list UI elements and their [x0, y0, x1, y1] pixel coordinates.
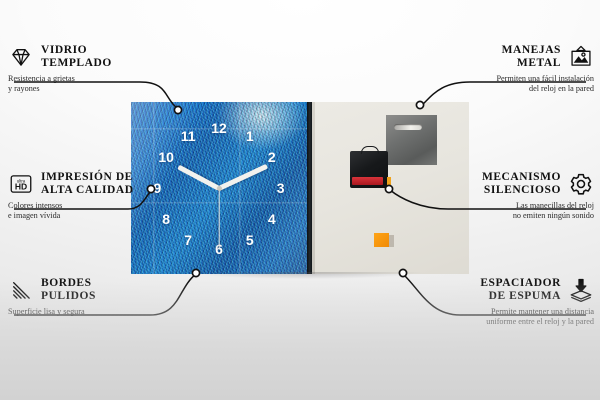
ultra-hd-icon: ultra HD [8, 171, 34, 197]
feature-title: VIDRIO TEMPLADO [41, 44, 112, 69]
hanging-frame-icon [568, 44, 594, 70]
callout-marker-bordes [192, 269, 199, 276]
callout-marker-manejas [416, 101, 423, 108]
feature-description: Colores intensos e imagen vívida [8, 201, 208, 221]
feature-title: ESPACIADOR DE ESPUMA [480, 277, 561, 302]
feature-title: IMPRESIÓN DE ALTA CALIDAD [41, 171, 134, 196]
svg-text:HD: HD [15, 182, 27, 192]
callout-marker-mecanismo [385, 185, 392, 192]
feature-vidrio-templado[interactable]: VIDRIO TEMPLADO Resistencia a grietas y … [8, 44, 208, 94]
feature-header: MANEJAS METAL [394, 44, 594, 70]
polished-edges-icon [8, 277, 34, 303]
feature-description: Resistencia a grietas y rayones [8, 74, 208, 94]
callout-marker-vidrio-templado [174, 106, 181, 113]
feature-mecanismo-silencioso[interactable]: MECANISMO SILENCIOSO Las manecillas del … [394, 171, 594, 221]
feature-header: VIDRIO TEMPLADO [8, 44, 208, 70]
feature-header: MECANISMO SILENCIOSO [394, 171, 594, 197]
gear-icon [568, 171, 594, 197]
feature-description: Permite mantener una distancia uniforme … [394, 307, 594, 327]
feature-impresion-alta-calidad[interactable]: ultra HD IMPRESIÓN DE ALTA CALIDAD Color… [8, 171, 208, 221]
feature-title: BORDES PULIDOS [41, 277, 96, 302]
feature-title: MANEJAS METAL [502, 44, 561, 69]
feature-manejas-metal[interactable]: MANEJAS METAL Permiten una fácil instala… [394, 44, 594, 94]
feature-description: Las manecillas del reloj no emiten ningú… [394, 201, 594, 221]
infographic-canvas: 12 1 2 3 4 5 6 7 8 9 10 11 [0, 0, 600, 400]
diamond-icon [8, 44, 34, 70]
foam-spacer-icon [568, 277, 594, 303]
callout-marker-espaciador [399, 269, 406, 276]
feature-bordes-pulidos[interactable]: BORDES PULIDOS Superficie lisa y segura [8, 277, 208, 317]
feature-header: ESPACIADOR DE ESPUMA [394, 277, 594, 303]
feature-header: BORDES PULIDOS [8, 277, 208, 303]
feature-description: Superficie lisa y segura [8, 307, 208, 317]
feature-title: MECANISMO SILENCIOSO [482, 171, 561, 196]
feature-espaciador-espuma[interactable]: ESPACIADOR DE ESPUMA Permite mantener un… [394, 277, 594, 327]
feature-header: ultra HD IMPRESIÓN DE ALTA CALIDAD [8, 171, 208, 197]
feature-description: Permiten una fácil instalación del reloj… [394, 74, 594, 94]
